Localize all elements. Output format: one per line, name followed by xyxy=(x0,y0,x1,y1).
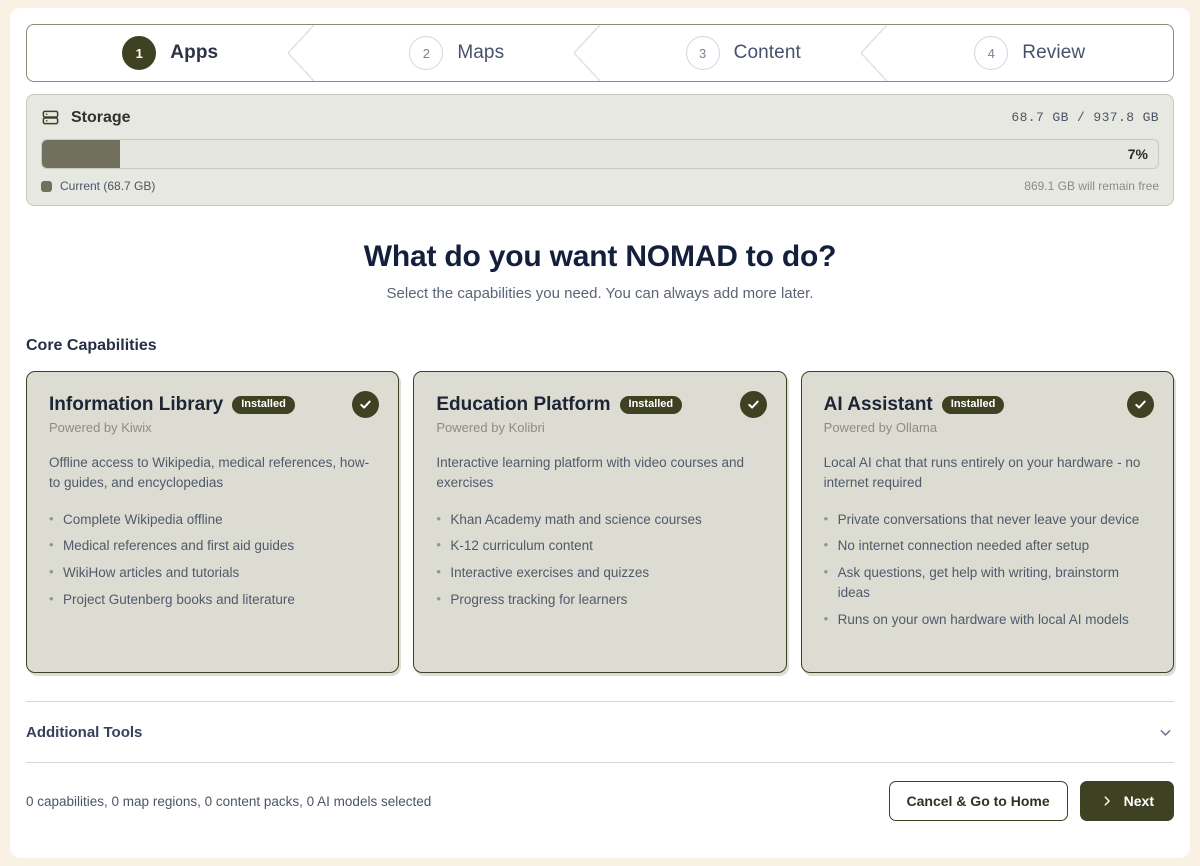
storage-title: Storage xyxy=(71,109,131,127)
card-description: Local AI chat that runs entirely on your… xyxy=(824,453,1151,494)
list-item: Progress tracking for learners xyxy=(436,590,763,610)
storage-percent-label: 7% xyxy=(1128,146,1148,162)
card-title: Education Platform xyxy=(436,394,610,416)
chevron-right-icon xyxy=(1100,794,1114,808)
step-number-badge: 3 xyxy=(686,36,720,70)
step-review[interactable]: 4 Review xyxy=(887,25,1174,81)
step-content[interactable]: 3 Content xyxy=(600,25,887,81)
page-subtitle: Select the capabilities you need. You ca… xyxy=(26,285,1174,302)
additional-tools-label: Additional Tools xyxy=(26,724,142,741)
card-powered-by: Powered by Ollama xyxy=(824,420,1151,435)
status-badge: Installed xyxy=(232,396,295,414)
step-maps[interactable]: 2 Maps xyxy=(314,25,601,81)
chevron-down-icon[interactable] xyxy=(1157,724,1174,741)
list-item: K-12 curriculum content xyxy=(436,536,763,556)
step-label: Content xyxy=(734,42,801,64)
legend-label-current: Current (68.7 GB) xyxy=(60,179,155,193)
selected-check-icon[interactable] xyxy=(740,391,767,418)
storage-panel: Storage 68.7 GB / 937.8 GB 7% Current (6… xyxy=(26,94,1174,206)
wizard-stepper: 1 Apps 2 Maps 3 Content 4 Review xyxy=(26,24,1174,82)
section-title-core-capabilities: Core Capabilities xyxy=(26,337,1174,355)
step-label: Maps xyxy=(457,42,504,64)
card-feature-list: Complete Wikipedia offline Medical refer… xyxy=(49,510,376,611)
list-item: No internet connection needed after setu… xyxy=(824,536,1151,556)
wizard-footer: 0 capabilities, 0 map regions, 0 content… xyxy=(26,781,1174,821)
next-button[interactable]: Next xyxy=(1080,781,1174,821)
cancel-go-home-button[interactable]: Cancel & Go to Home xyxy=(889,781,1068,821)
storage-legend: Current (68.7 GB) xyxy=(41,179,155,193)
status-badge: Installed xyxy=(942,396,1005,414)
next-button-label: Next xyxy=(1124,793,1154,809)
list-item: Complete Wikipedia offline xyxy=(49,510,376,530)
capability-card-ai-assistant[interactable]: AI Assistant Installed Powered by Ollama… xyxy=(801,371,1174,673)
list-item: Project Gutenberg books and literature xyxy=(49,590,376,610)
legend-swatch-current xyxy=(41,181,52,192)
storage-progress-bar: 7% xyxy=(41,139,1159,169)
card-feature-list: Private conversations that never leave y… xyxy=(824,510,1151,631)
capability-card-education-platform[interactable]: Education Platform Installed Powered by … xyxy=(413,371,786,673)
step-apps[interactable]: 1 Apps xyxy=(27,25,314,81)
card-title: Information Library xyxy=(49,394,223,416)
card-powered-by: Powered by Kiwix xyxy=(49,420,376,435)
step-number-badge: 4 xyxy=(974,36,1008,70)
step-label: Review xyxy=(1022,42,1085,64)
list-item: WikiHow articles and tutorials xyxy=(49,563,376,583)
step-number-badge: 1 xyxy=(122,36,156,70)
card-description: Interactive learning platform with video… xyxy=(436,453,763,494)
list-item: Medical references and first aid guides xyxy=(49,536,376,556)
card-title: AI Assistant xyxy=(824,394,933,416)
page-title: What do you want NOMAD to do? xyxy=(26,240,1174,274)
server-icon xyxy=(41,108,60,127)
capability-card-grid: Information Library Installed Powered by… xyxy=(26,371,1174,673)
list-item: Interactive exercises and quizzes xyxy=(436,563,763,583)
selection-summary: 0 capabilities, 0 map regions, 0 content… xyxy=(26,794,431,809)
status-badge: Installed xyxy=(620,396,683,414)
selected-check-icon[interactable] xyxy=(1127,391,1154,418)
list-item: Private conversations that never leave y… xyxy=(824,510,1151,530)
additional-tools-accordion[interactable]: Additional Tools xyxy=(26,701,1174,763)
step-number-badge: 2 xyxy=(409,36,443,70)
capability-card-information-library[interactable]: Information Library Installed Powered by… xyxy=(26,371,399,673)
list-item: Ask questions, get help with writing, br… xyxy=(824,563,1151,603)
card-feature-list: Khan Academy math and science courses K-… xyxy=(436,510,763,611)
card-description: Offline access to Wikipedia, medical ref… xyxy=(49,453,376,494)
step-label: Apps xyxy=(170,42,218,64)
storage-progress-fill xyxy=(42,140,120,168)
storage-usage-text: 68.7 GB / 937.8 GB xyxy=(1011,110,1159,125)
list-item: Runs on your own hardware with local AI … xyxy=(824,610,1151,630)
storage-remaining-text: 869.1 GB will remain free xyxy=(1024,179,1159,193)
list-item: Khan Academy math and science courses xyxy=(436,510,763,530)
card-powered-by: Powered by Kolibri xyxy=(436,420,763,435)
app-window: 1 Apps 2 Maps 3 Content 4 Review xyxy=(10,8,1190,858)
